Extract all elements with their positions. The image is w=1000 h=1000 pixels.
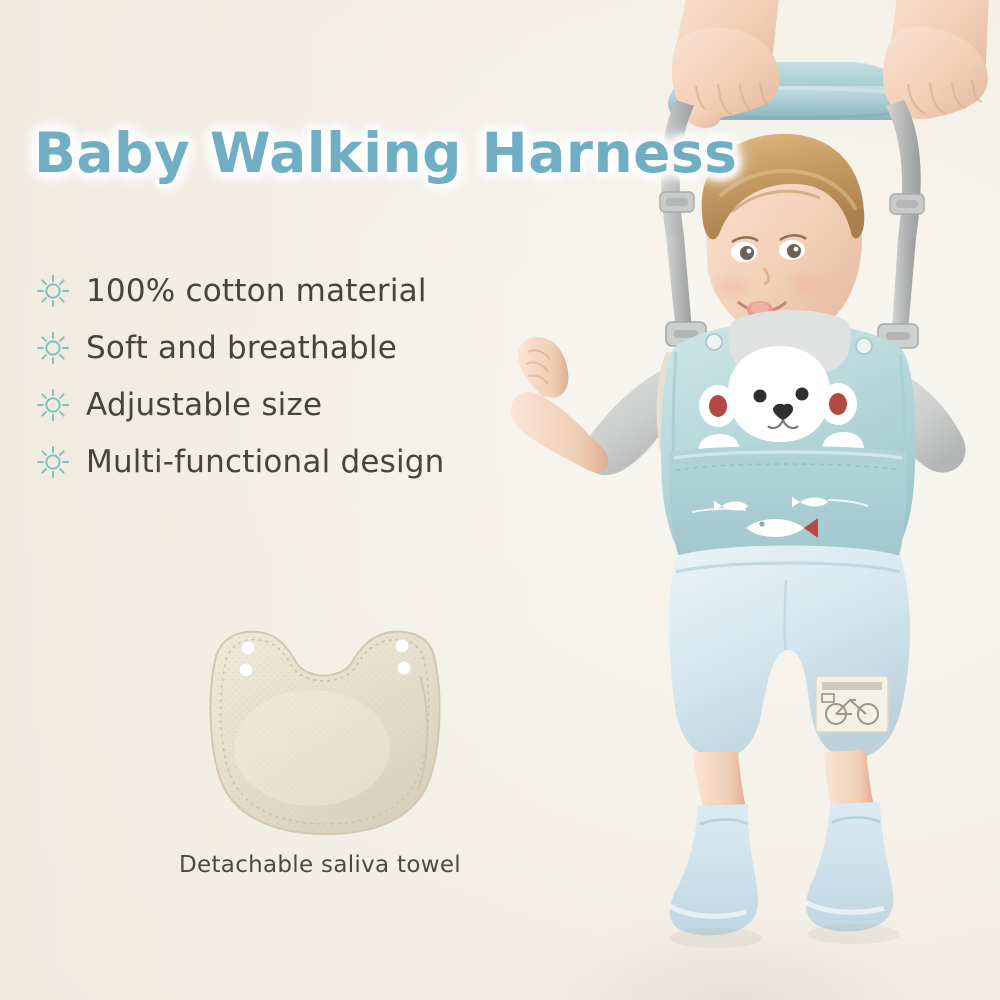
baby-legs — [692, 750, 874, 812]
bib-snap — [395, 639, 409, 653]
feature-list: 100% cotton material Soft and breathable — [36, 262, 556, 490]
page-title: Baby Walking Harness — [34, 121, 737, 185]
strap-adjuster-right — [890, 194, 924, 214]
bib-snap — [239, 663, 253, 677]
sun-icon — [36, 445, 70, 479]
sun-icon — [36, 274, 70, 308]
feature-label: Adjustable size — [86, 387, 322, 423]
saliva-towel-image — [192, 618, 456, 848]
feature-item: Multi-functional design — [36, 433, 556, 490]
feature-label: Multi-functional design — [86, 444, 445, 480]
bicycle-patch — [816, 676, 888, 732]
baby-pants — [669, 546, 910, 759]
saliva-towel-caption: Detachable saliva towel — [0, 852, 640, 878]
feature-item: 100% cotton material — [36, 262, 556, 319]
feature-item: Soft and breathable — [36, 319, 556, 376]
harness-snap — [856, 338, 872, 354]
feature-label: Soft and breathable — [86, 330, 397, 366]
baby-socks — [670, 802, 900, 948]
sun-icon — [36, 388, 70, 422]
bib-snap — [397, 661, 411, 675]
product-poster: Baby Walking Harness 100% cotton materia… — [0, 0, 1000, 1000]
feature-label: 100% cotton material — [86, 273, 427, 309]
bib-snap — [241, 641, 255, 655]
harness-snap — [706, 334, 722, 350]
feature-item: Adjustable size — [36, 376, 556, 433]
strap-adjuster-left — [660, 192, 694, 212]
sun-icon — [36, 331, 70, 365]
harness-vest — [657, 310, 916, 585]
